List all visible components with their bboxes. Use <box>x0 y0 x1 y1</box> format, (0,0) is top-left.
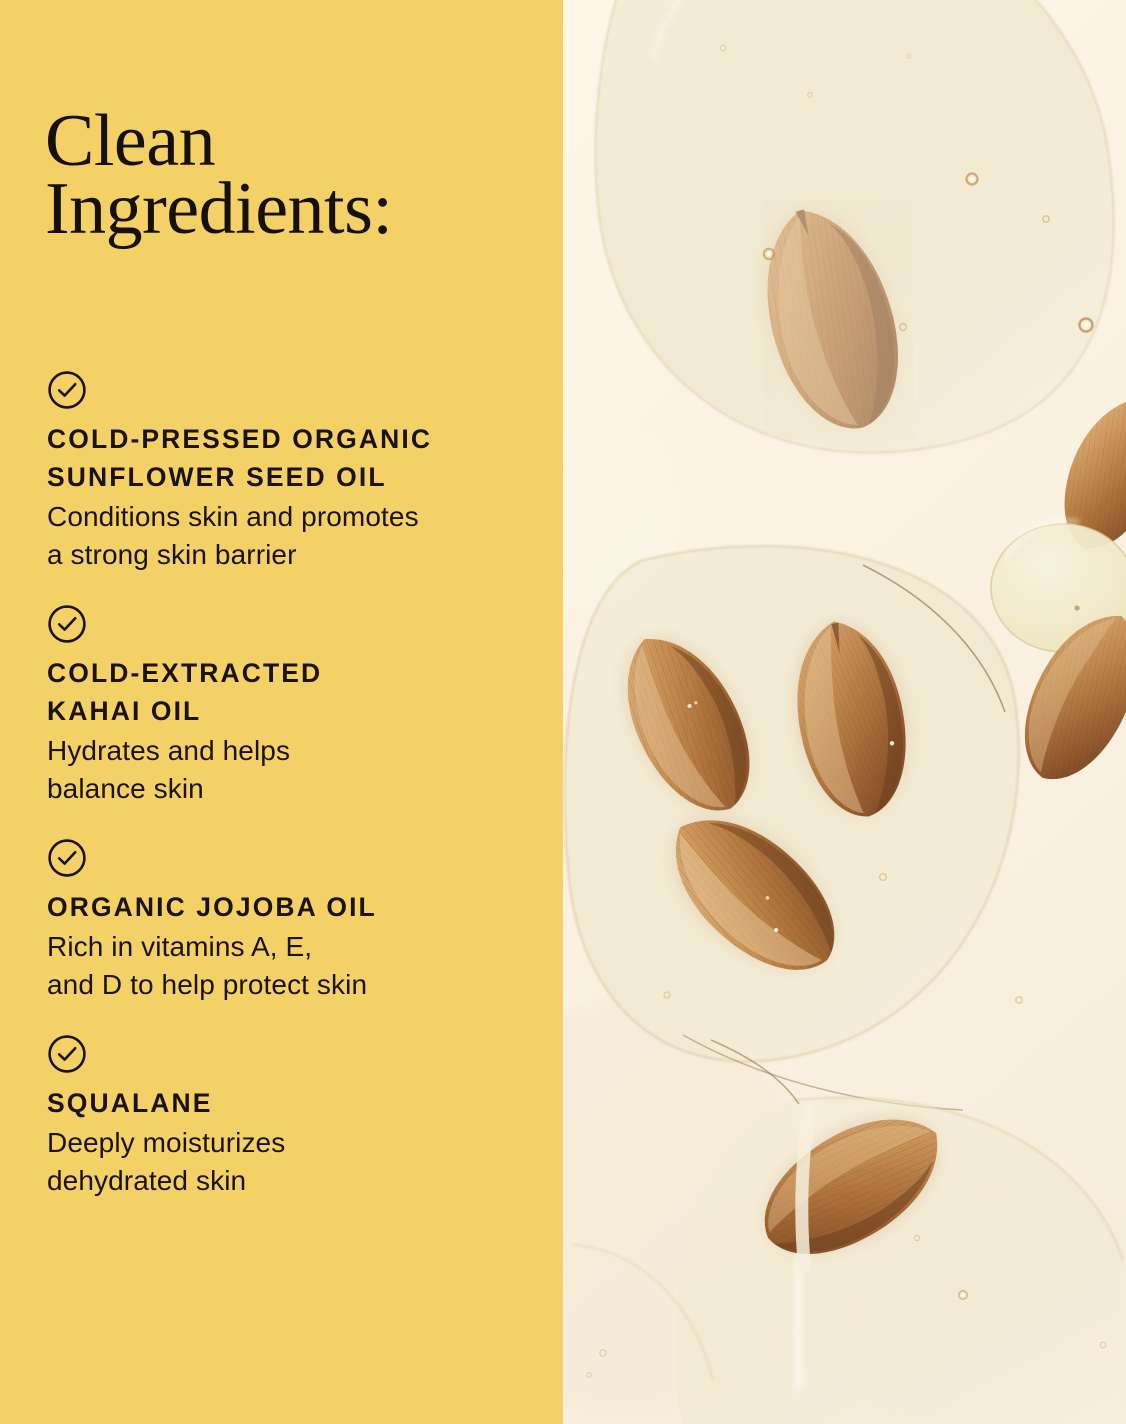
list-item: ORGANIC JOJOBA OIL Rich in vitamins A, E… <box>47 838 527 1004</box>
list-item: COLD-EXTRACTED KAHAI OIL Hydrates and he… <box>47 604 527 808</box>
almond-oil-photograph <box>563 0 1126 1424</box>
page-title: Clean Ingredients: <box>45 107 515 243</box>
ingredient-name: COLD-PRESSED ORGANIC SUNFLOWER SEED OIL <box>47 420 527 496</box>
ingredient-name: COLD-EXTRACTED KAHAI OIL <box>47 654 527 730</box>
ingredient-description: Hydrates and helps balance skin <box>47 732 527 808</box>
check-circle-icon <box>47 838 87 878</box>
list-item: SQUALANE Deeply moisturizes dehydrated s… <box>47 1034 527 1200</box>
check-circle-icon <box>47 604 87 644</box>
ingredients-list: COLD-PRESSED ORGANIC SUNFLOWER SEED OIL … <box>47 370 527 1200</box>
ingredients-panel: Clean Ingredients: COLD-PRESSED ORGANIC … <box>0 0 563 1424</box>
ingredient-description: Conditions skin and promotes a strong sk… <box>47 498 527 574</box>
check-circle-icon <box>47 370 87 410</box>
list-item: COLD-PRESSED ORGANIC SUNFLOWER SEED OIL … <box>47 370 527 574</box>
ingredient-description: Deeply moisturizes dehydrated skin <box>47 1124 527 1200</box>
ingredient-name: ORGANIC JOJOBA OIL <box>47 888 527 926</box>
ingredient-name: SQUALANE <box>47 1084 527 1122</box>
almond-bottom-refraction <box>802 1105 809 1272</box>
ingredient-description: Rich in vitamins A, E, and D to help pro… <box>47 928 527 1004</box>
product-photo <box>563 0 1126 1424</box>
check-circle-icon <box>47 1034 87 1074</box>
almond-top-oil-overlay <box>763 200 913 440</box>
ingredients-infographic: Clean Ingredients: COLD-PRESSED ORGANIC … <box>0 0 1126 1424</box>
